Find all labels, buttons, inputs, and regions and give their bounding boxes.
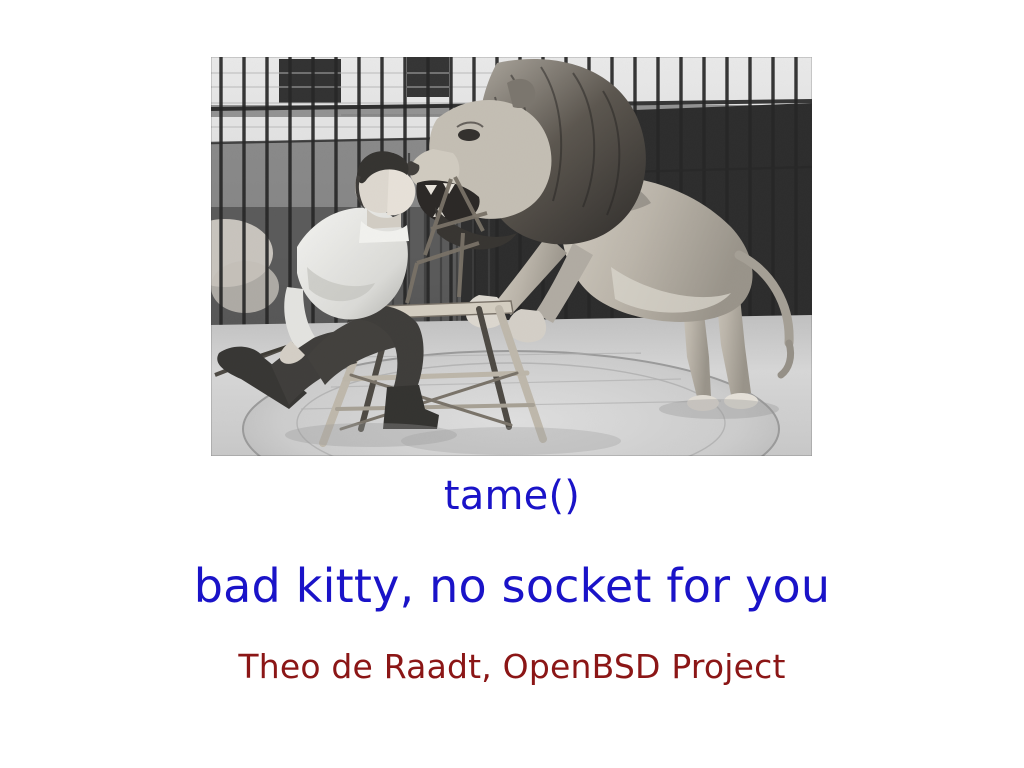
slide-title: tame() bbox=[0, 473, 1024, 519]
slide-subtitle: bad kitty, no socket for you bbox=[0, 560, 1024, 612]
slide-author: Theo de Raadt, OpenBSD Project bbox=[0, 648, 1024, 686]
lion-tamer-illustration bbox=[211, 57, 812, 456]
lion-tamer-photo bbox=[211, 57, 812, 456]
presentation-slide: tame() bad kitty, no socket for you Theo… bbox=[0, 0, 1024, 768]
